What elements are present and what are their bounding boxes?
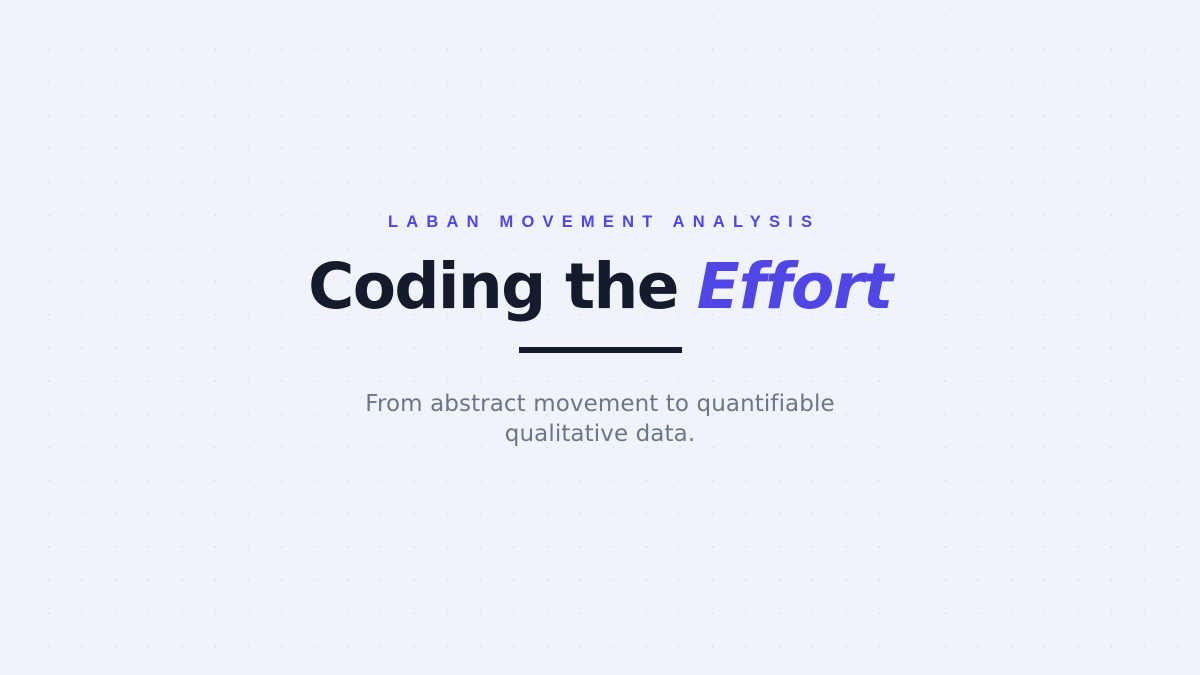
page-title-accent: Effort bbox=[697, 255, 892, 318]
title-divider-rule bbox=[519, 347, 682, 353]
subtitle-text: From abstract movement to quantifiable q… bbox=[320, 389, 880, 449]
page-title: Coding theEffort bbox=[308, 255, 892, 318]
title-block: LABAN MOVEMENT ANALYSIS Coding theEffort… bbox=[0, 214, 1200, 449]
eyebrow-label: LABAN MOVEMENT ANALYSIS bbox=[380, 214, 820, 231]
title-slide: LABAN MOVEMENT ANALYSIS Coding theEffort… bbox=[0, 0, 1200, 675]
page-title-plain: Coding the bbox=[308, 255, 678, 318]
